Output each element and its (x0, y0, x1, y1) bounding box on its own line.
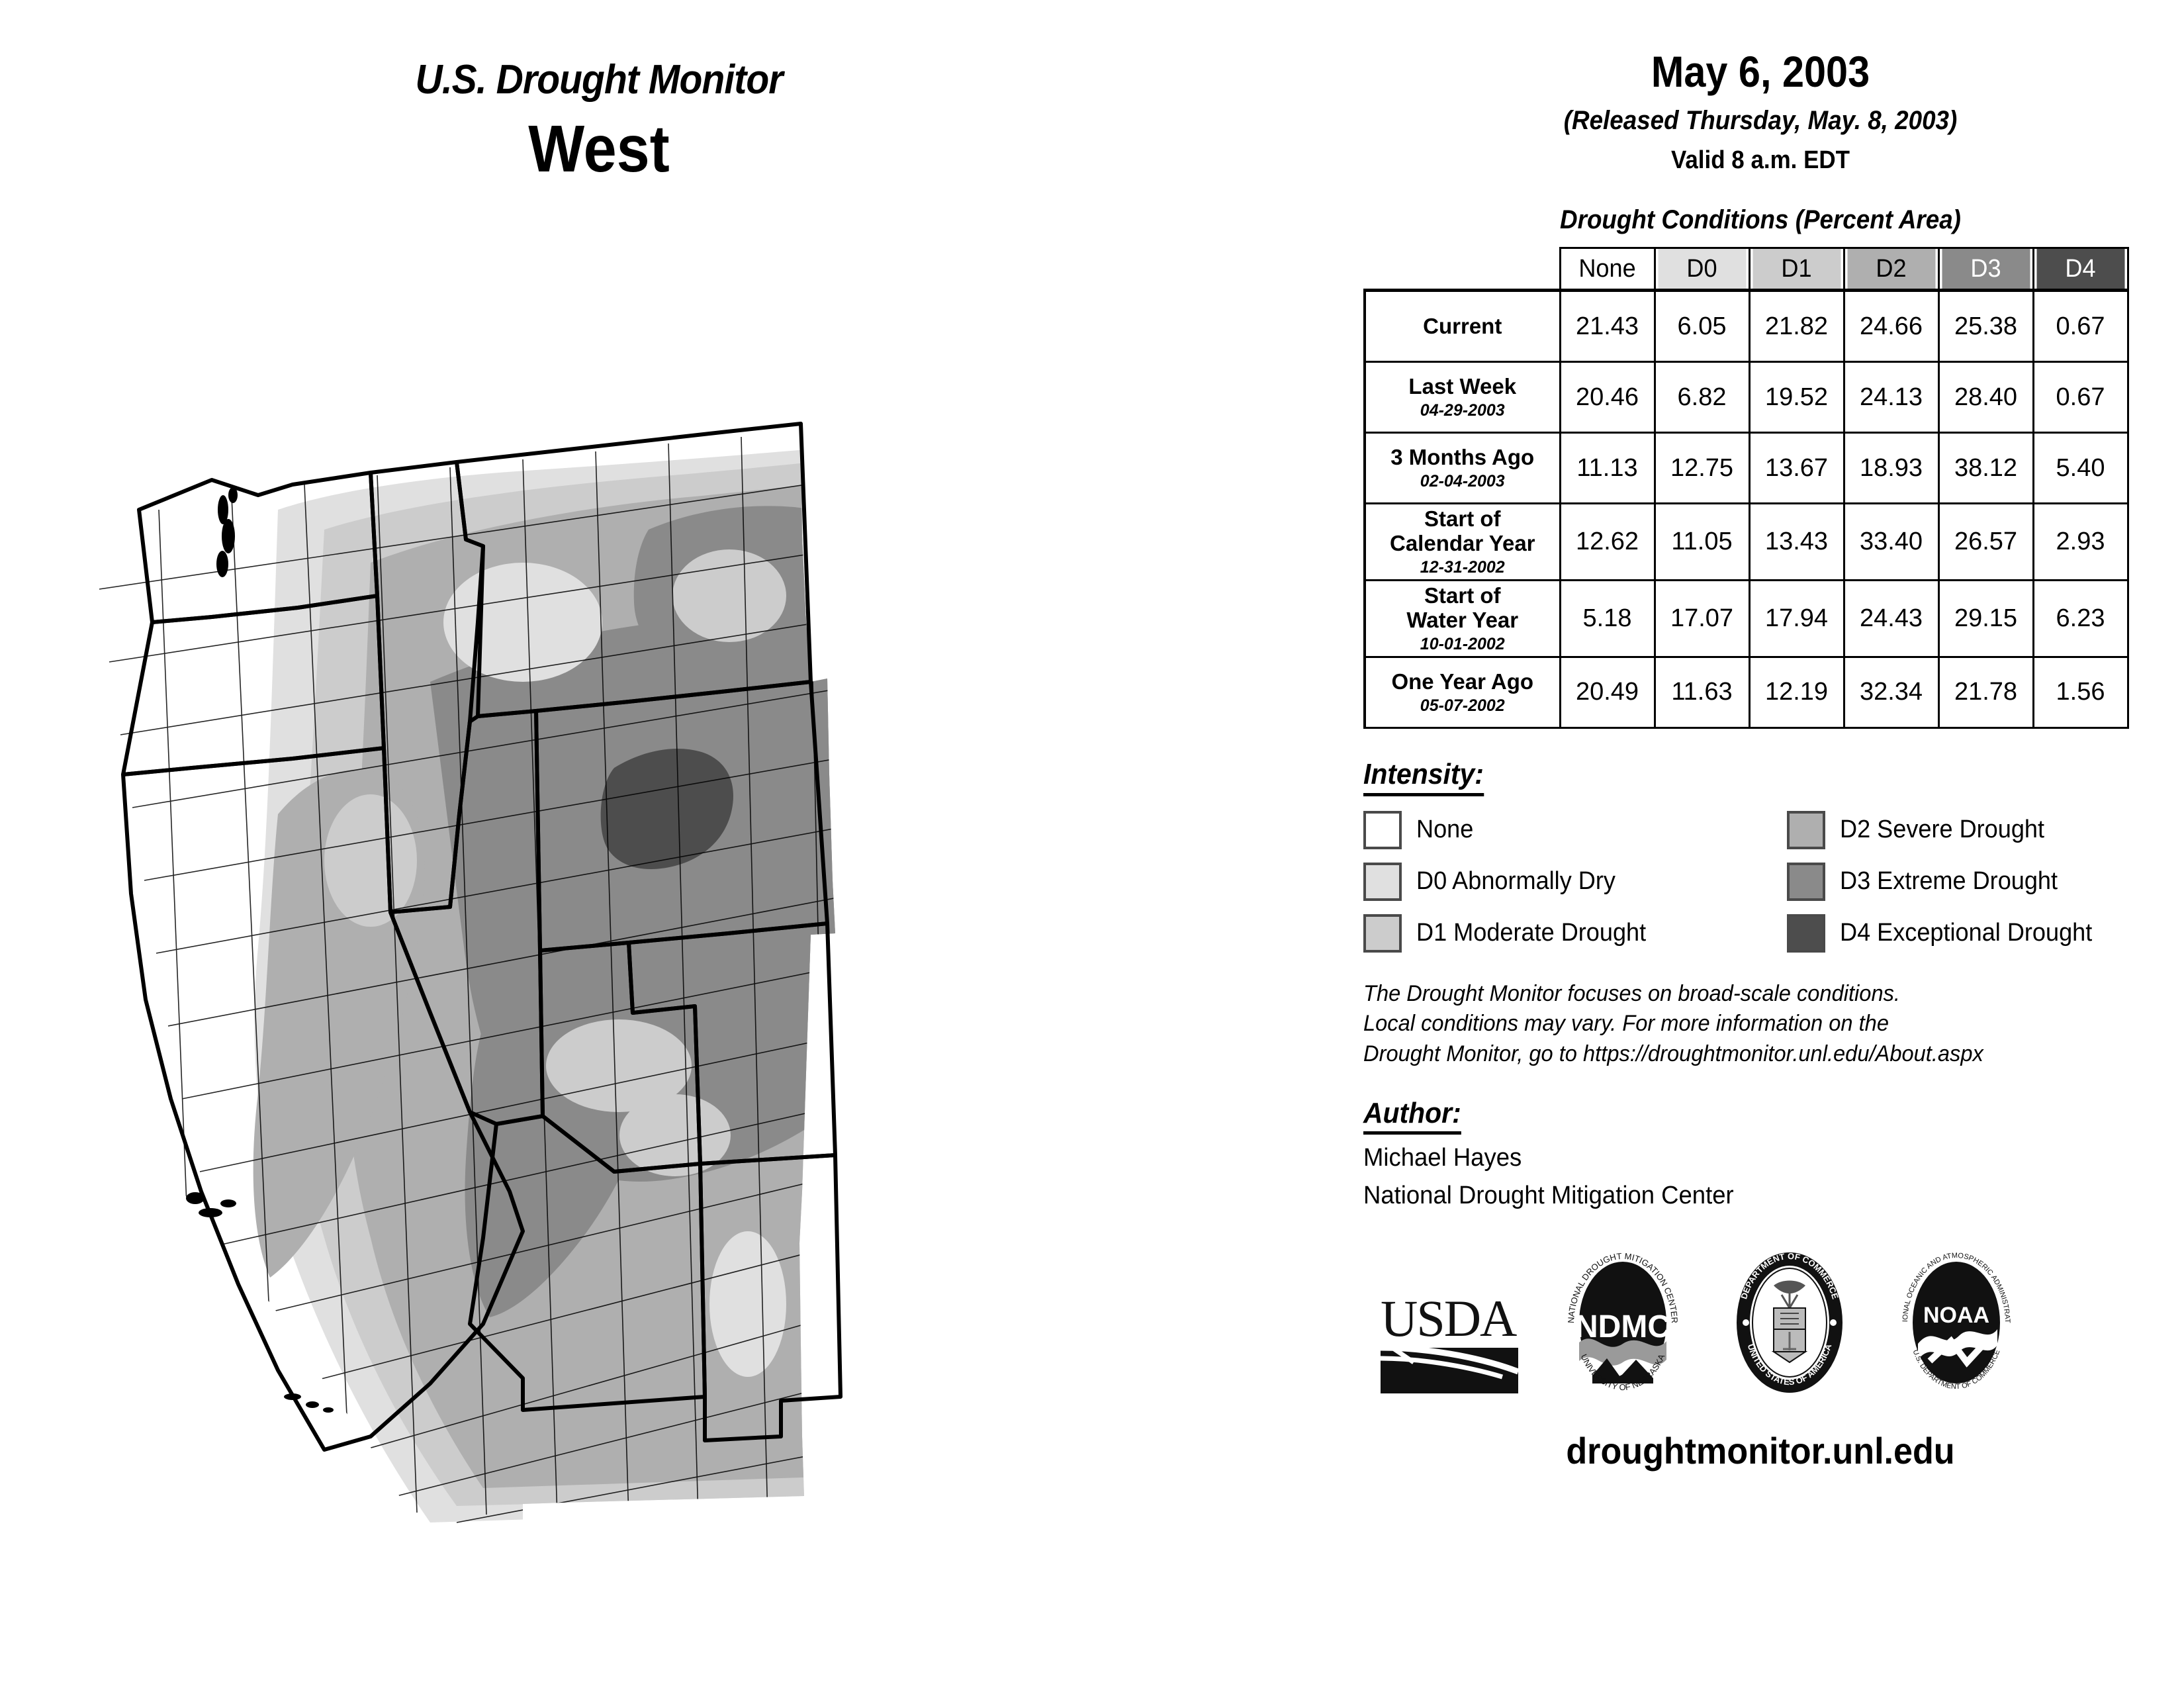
d1-pocket-idaho (443, 563, 602, 682)
column-header-d2: D2 (1846, 248, 1936, 291)
table-cell: 19.52 (1749, 362, 1844, 433)
table-cell: 2.93 (2033, 504, 2128, 581)
table-cell: 29.15 (1938, 580, 2033, 657)
table-cell: 25.38 (1938, 291, 2033, 362)
row-label-date: 10-01-2002 (1370, 635, 1555, 653)
author-organization: National Drought Mitigation Center (1363, 1182, 2126, 1210)
row-label: Current (1365, 291, 1560, 362)
legend-item: D2 Severe Drought (1787, 811, 2184, 849)
legend-grid: NoneD2 Severe DroughtD0 Abnormally DryD3… (1363, 811, 2158, 953)
date-block: May 6, 2003 (Released Thursday, May. 8, … (1363, 46, 2158, 175)
intensity-legend: Intensity: NoneD2 Severe DroughtD0 Abnor… (1363, 758, 2158, 953)
drought-map-svg[interactable] (60, 311, 1357, 1602)
author-name: Michael Hayes (1363, 1144, 2126, 1172)
column-header-d4: D4 (2036, 248, 2126, 291)
table-row: Last Week04-29-200320.466.8219.5224.1328… (1365, 362, 2128, 433)
table-cell: 33.40 (1844, 504, 1938, 581)
table-cell: 21.82 (1749, 291, 1844, 362)
legend-item: D1 Moderate Drought (1363, 914, 1787, 953)
table-cell: 21.78 (1938, 657, 2033, 727)
d2-pocket-montana (672, 549, 786, 642)
row-label-line: 3 Months Ago (1370, 445, 1555, 470)
column-header-d1: D1 (1752, 248, 1842, 291)
footer-url[interactable]: droughtmonitor.unl.edu (1391, 1429, 2130, 1472)
table-cell: 17.07 (1655, 580, 1749, 657)
drought-map[interactable] (60, 311, 1357, 1602)
legend-swatch (1787, 914, 1825, 953)
table-row: 3 Months Ago02-04-200311.1312.7513.6718.… (1365, 433, 2128, 504)
noaa-logo: NOAA NATIONAL OCEANIC AND ATMOSPHERIC AD… (1890, 1244, 2023, 1400)
row-label: 3 Months Ago02-04-2003 (1365, 433, 1560, 504)
legend-item: None (1363, 811, 1787, 849)
row-label: Start ofCalendar Year12-31-2002 (1365, 504, 1560, 581)
column-header-d3: D3 (1941, 248, 2031, 291)
drought-conditions-table: None D0 D1 D2 D3 D4 Current21.436.0521.8… (1363, 247, 2129, 729)
legend-swatch (1363, 914, 1402, 953)
legend-swatch (1787, 863, 1825, 901)
table-row: Start ofWater Year10-01-20025.1817.0717.… (1365, 580, 2128, 657)
legend-swatch (1363, 811, 1402, 849)
table-cell: 28.40 (1938, 362, 2033, 433)
table-row: Start ofCalendar Year12-31-200212.6211.0… (1365, 504, 2128, 581)
disclaimer-line-3: Drought Monitor, go to https://droughtmo… (1363, 1039, 2126, 1070)
doc-logo: DEPARTMENT OF COMMERCE UNITED STATES OF … (1723, 1244, 1856, 1400)
table-cell: 1.56 (2033, 657, 2128, 727)
row-label: One Year Ago05-07-2002 (1365, 657, 1560, 727)
table-caption: Drought Conditions (Percent Area) (1395, 205, 2126, 235)
usda-logo: USDA (1377, 1284, 1522, 1400)
row-label-date: 04-29-2003 (1370, 401, 1555, 420)
legend-label: None (1416, 816, 1473, 844)
legend-label: D3 Extreme Drought (1840, 867, 2058, 896)
table-row: One Year Ago05-07-200220.4911.6312.1932.… (1365, 657, 2128, 727)
column-header-d0: D0 (1657, 248, 1747, 291)
row-label-date: 12-31-2002 (1370, 558, 1555, 577)
release-date: (Released Thursday, May. 8, 2003) (1395, 106, 2126, 136)
d1-pocket-nevada (324, 794, 417, 927)
table-cell: 32.34 (1844, 657, 1938, 727)
legend-swatch (1363, 863, 1402, 901)
row-label-line: Last Week (1370, 375, 1555, 399)
logo-row: USDA NDMC NATIONAL DROUGHT MITI (1363, 1244, 2158, 1400)
table-cell: 12.62 (1560, 504, 1655, 581)
table-cell: 6.82 (1655, 362, 1749, 433)
table-cell: 5.40 (2033, 433, 2128, 504)
row-label-date: 02-04-2003 (1370, 472, 1555, 491)
author-heading: Author: (1363, 1097, 1461, 1135)
table-cell: 13.43 (1749, 504, 1844, 581)
table-cell: 24.13 (1844, 362, 1938, 433)
row-label-line: One Year Ago (1370, 670, 1555, 694)
table-cell: 38.12 (1938, 433, 2033, 504)
table-header-row: None D0 D1 D2 D3 D4 (1365, 248, 2128, 291)
table-cell: 17.94 (1749, 580, 1844, 657)
row-label-date: 05-07-2002 (1370, 696, 1555, 715)
d2-pocket-wyoming-w (546, 1019, 692, 1112)
row-label-line: Start of (1370, 507, 1555, 532)
region-title: West (257, 115, 942, 183)
table-cell: 20.46 (1560, 362, 1655, 433)
legend-label: D2 Severe Drought (1840, 816, 2044, 844)
table-cell: 20.49 (1560, 657, 1655, 727)
column-header-none: None (1563, 248, 1653, 291)
disclaimer: The Drought Monitor focuses on broad-sca… (1363, 979, 2126, 1070)
table-cell: 13.67 (1749, 433, 1844, 504)
table-cell: 11.13 (1560, 433, 1655, 504)
legend-swatch (1787, 811, 1825, 849)
legend-item: D0 Abnormally Dry (1363, 863, 1787, 901)
table-cell: 6.23 (2033, 580, 2128, 657)
table-cell: 21.43 (1560, 291, 1655, 362)
usda-logo-text: USDA (1381, 1289, 1517, 1347)
table-cell: 6.05 (1655, 291, 1749, 362)
legend-label: D0 Abnormally Dry (1416, 867, 1615, 896)
ndmc-logo-text: NDMC (1575, 1309, 1670, 1344)
table-cell: 0.67 (2033, 291, 2128, 362)
row-label: Start ofWater Year10-01-2002 (1365, 580, 1560, 657)
noaa-logo-text: NOAA (1923, 1303, 1989, 1328)
d1-pocket-nm (709, 1231, 786, 1377)
table-cell: 24.66 (1844, 291, 1938, 362)
page-title: U.S. Drought Monitor (249, 56, 949, 103)
table-cell: 12.75 (1655, 433, 1749, 504)
row-label-line: Current (1370, 314, 1555, 339)
drought-conditions-table-wrap: None D0 D1 D2 D3 D4 Current21.436.0521.8… (1363, 247, 2158, 729)
table-cell: 18.93 (1844, 433, 1938, 504)
table-cell: 11.63 (1655, 657, 1749, 727)
row-label-line: Start of (1370, 584, 1555, 608)
table-row: Current21.436.0521.8224.6625.380.67 (1365, 291, 2128, 362)
row-label: Last Week04-29-2003 (1365, 362, 1560, 433)
issue-date: May 6, 2003 (1403, 46, 2118, 97)
ndmc-logo: NDMC NATIONAL DROUGHT MITIGATION CENTER … (1557, 1244, 1689, 1400)
row-label-line: Water Year (1370, 608, 1555, 633)
legend-item: D3 Extreme Drought (1787, 863, 2184, 901)
map-title-block: U.S. Drought Monitor West (218, 56, 979, 183)
table-cell: 5.18 (1560, 580, 1655, 657)
table-cell: 12.19 (1749, 657, 1844, 727)
author-block: Author: Michael Hayes National Drought M… (1363, 1097, 2158, 1210)
legend-item: D4 Exceptional Drought (1787, 914, 2184, 953)
table-cell: 11.05 (1655, 504, 1749, 581)
legend-label: D1 Moderate Drought (1416, 919, 1646, 947)
disclaimer-line-1: The Drought Monitor focuses on broad-sca… (1363, 979, 2126, 1009)
disclaimer-line-2: Local conditions may vary. For more info… (1363, 1009, 2126, 1039)
row-label-line: Calendar Year (1370, 532, 1555, 556)
legend-label: D4 Exceptional Drought (1840, 919, 2092, 947)
table-cell: 26.57 (1938, 504, 2033, 581)
table-cell: 24.43 (1844, 580, 1938, 657)
table-corner-cell (1369, 248, 1555, 291)
valid-time: Valid 8 a.m. EDT (1395, 146, 2126, 175)
intensity-heading: Intensity: (1363, 758, 1484, 796)
table-cell: 0.67 (2033, 362, 2128, 433)
